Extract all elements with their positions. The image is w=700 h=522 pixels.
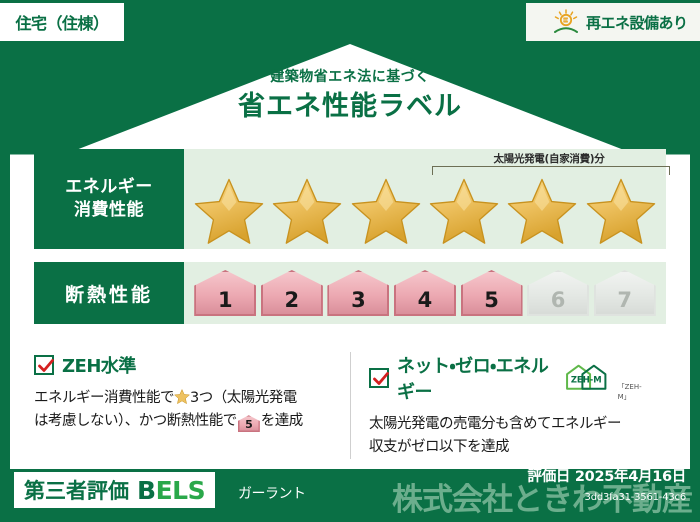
criterion-nze-header: ネット・ゼロ・エネルギー ZEH-M 「ZEH-M」 — [369, 352, 650, 404]
criteria-section: ZEH水準 エネルギー消費性能で3つ（太陽光発電 は考慮しない）、かつ断熱性能で… — [34, 352, 666, 459]
label-subtitle: 建築物省エネ法に基づく — [0, 66, 700, 86]
star-icon — [271, 177, 343, 245]
inline-insulation-grade-badge: 5 — [238, 415, 260, 432]
criterion-zeh-text-3: は考慮しない）、かつ断熱性能で — [34, 413, 237, 429]
insulation-grade-badge: 5 — [461, 270, 523, 316]
bels-energy-label: 住宅（住棟） 再エネ設備あり 建築物省エネ法に基づく 省エネ性能ラベル エネルギ… — [0, 0, 700, 522]
zeh-m-logo-caption: 「ZEH-M」 — [618, 382, 650, 404]
checkbox-checked-icon — [34, 355, 54, 375]
star-icon — [174, 389, 190, 404]
insulation-grade-badge: 6 — [527, 270, 589, 316]
criterion-nze-text-1: 太陽光発電の売電分も含めてエネルギー — [369, 416, 621, 432]
insulation-grade-badge: 3 — [327, 270, 389, 316]
bels-letters-els: ELS — [156, 476, 206, 505]
criterion-zeh-header: ZEH水準 — [34, 352, 334, 378]
criterion-nze-text-2: 収支がゼロ以下を達成 — [369, 439, 509, 455]
criterion-nze-body: 太陽光発電の売電分も含めてエネルギー 収支がゼロ以下を達成 — [369, 413, 650, 459]
category-tag: 住宅（住棟） — [0, 3, 124, 41]
energy-performance-value: 太陽光発電(自家消費)分 — [184, 149, 666, 249]
insulation-grade-badge: 7 — [594, 270, 656, 316]
star-icon — [350, 177, 422, 245]
renewable-badge-label: 再エネ設備あり — [586, 12, 688, 33]
insulation-grade-badge: 4 — [394, 270, 456, 316]
criterion-zeh-body: エネルギー消費性能で3つ（太陽光発電 は考慮しない）、かつ断熱性能で5を達成 — [34, 387, 334, 433]
energy-performance-row: エネルギー 消費性能 太陽光発電(自家消費)分 — [34, 149, 666, 249]
solar-bracket — [432, 166, 670, 175]
renewable-energy-badge: 再エネ設備あり — [526, 3, 700, 41]
criterion-net-zero-energy: ネット・ゼロ・エネルギー ZEH-M 「ZEH-M」 太陽光発電の売電分も含めて… — [350, 352, 666, 459]
insulation-grade-badge: 1 — [194, 270, 256, 316]
criterion-nze-title: ネット・ゼロ・エネルギー — [397, 352, 560, 404]
insulation-grade-scale: 1 2 3 4 5 6 7 — [184, 262, 666, 324]
energy-key-line1: エネルギー — [65, 176, 153, 199]
star-rating — [190, 177, 660, 245]
bels-wordmark: BELS — [137, 476, 205, 505]
label-title: 省エネ性能ラベル — [0, 84, 700, 123]
sun-icon — [552, 9, 580, 35]
star-icon — [193, 177, 265, 245]
energy-key-line2: 消費性能 — [74, 199, 144, 222]
bels-certification-mark: 第三者評価 BELS — [14, 472, 215, 508]
insulation-grade-badge: 2 — [261, 270, 323, 316]
energy-performance-key: エネルギー 消費性能 — [34, 149, 184, 249]
solar-annotation-label: 太陽光発電(自家消費)分 — [429, 151, 669, 166]
insulation-performance-key: 断熱性能 — [34, 262, 184, 324]
category-tag-label: 住宅（住棟） — [15, 10, 108, 34]
insulation-performance-value: 1 2 3 4 5 6 7 — [184, 262, 666, 324]
evaluation-id: 3dd3fa31-3561-43c6 — [585, 492, 686, 503]
evaluation-date: 評価日 2025年4月16日 — [528, 465, 686, 486]
zeh-m-logo-text: ZEH-M — [570, 375, 601, 385]
criterion-zeh-level: ZEH水準 エネルギー消費性能で3つ（太陽光発電 は考慮しない）、かつ断熱性能で… — [34, 352, 350, 459]
criterion-zeh-text-4: を達成 — [261, 413, 303, 429]
insulation-performance-row: 断熱性能 1 2 3 4 5 6 7 — [34, 262, 666, 324]
star-icon — [585, 177, 657, 245]
star-icon — [428, 177, 500, 245]
criterion-zeh-text-1: エネルギー消費性能で — [34, 390, 174, 406]
guarantee-label: ガーラント — [238, 483, 306, 503]
evaluation-date-label: 評価日 — [528, 469, 571, 485]
criterion-zeh-title: ZEH水準 — [62, 352, 136, 378]
checkbox-checked-icon — [369, 368, 389, 388]
star-icon — [506, 177, 578, 245]
criterion-zeh-text-2: 3つ（太陽光発電 — [190, 390, 297, 406]
zeh-m-house-logo-icon: ZEH-M — [564, 363, 610, 393]
evaluation-date-value: 2025年4月16日 — [575, 469, 686, 485]
bels-jp-label: 第三者評価 — [24, 475, 129, 505]
bels-letter-b: B — [137, 476, 156, 505]
